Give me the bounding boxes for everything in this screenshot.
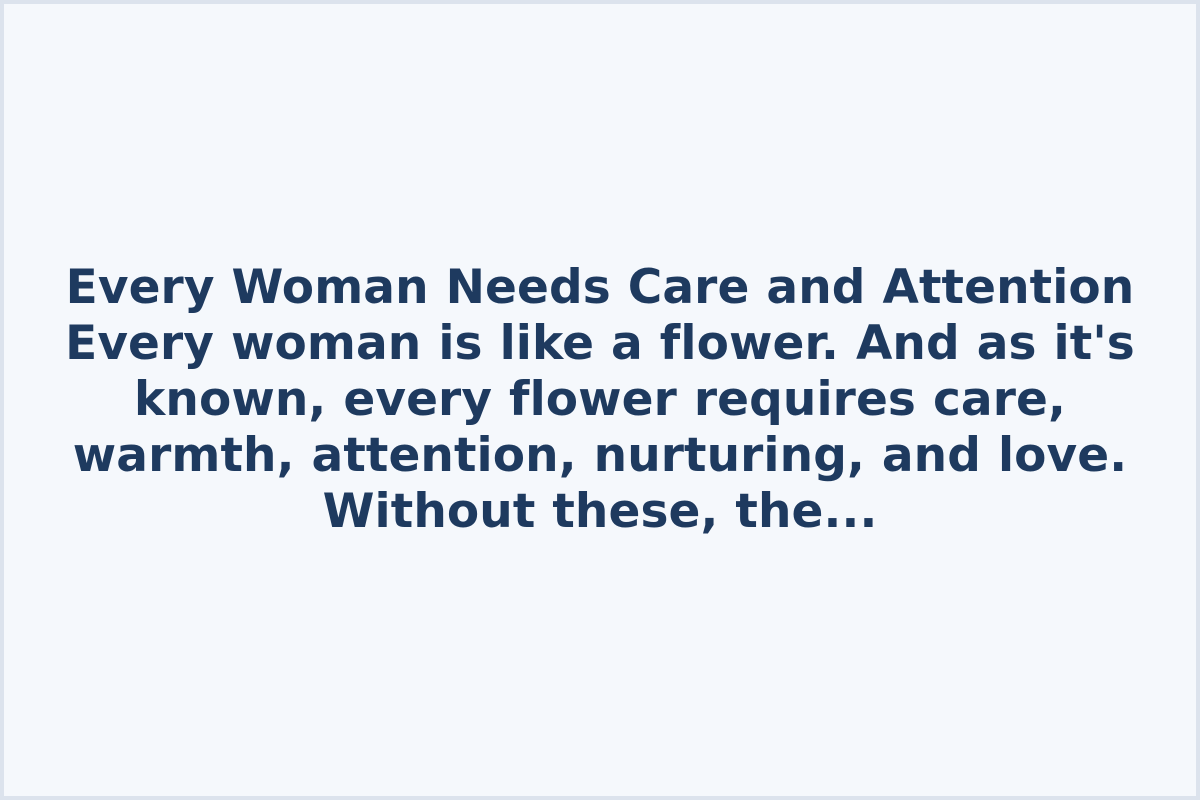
quote-text-block: Every Woman Needs Care and Attention Eve… xyxy=(20,260,1180,540)
quote-text: Every Woman Needs Care and Attention Eve… xyxy=(30,260,1170,540)
quote-card: Every Woman Needs Care and Attention Eve… xyxy=(0,0,1200,800)
